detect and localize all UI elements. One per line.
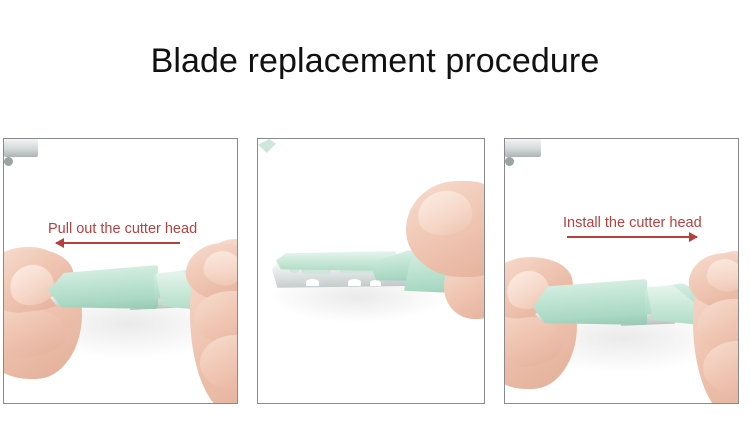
arrow-left-icon — [56, 237, 180, 249]
arrow-head — [55, 238, 64, 248]
blade-notch — [306, 279, 319, 286]
arrow-head — [689, 232, 698, 242]
blade-notch — [348, 279, 361, 286]
arrow-right-icon — [567, 231, 697, 243]
step-3-caption: Install the cutter head — [563, 215, 702, 232]
blade-replacement-instruction-graphic: Blade replacement procedure — [0, 0, 750, 425]
step-2-illustration — [258, 139, 484, 403]
step-1-illustration: Pull out the cutter head — [4, 139, 237, 403]
blade-tip — [258, 139, 276, 153]
page-title: Blade replacement procedure — [0, 40, 750, 82]
steps-panel-strip: Pull out the cutter head — [3, 138, 739, 404]
blade-clip-notch-icon — [505, 157, 514, 166]
step-panel-2 — [257, 138, 485, 404]
step-panel-1: Pull out the cutter head — [3, 138, 238, 404]
step-3-illustration: Install the cutter head — [505, 139, 738, 403]
step-panel-3: Install the cutter head — [504, 138, 739, 404]
blade-clip — [4, 139, 38, 157]
blade-clip-notch-icon — [4, 157, 13, 166]
arrow-shaft — [56, 242, 180, 244]
blade-notch — [370, 280, 381, 286]
blade-clip — [505, 139, 541, 157]
step-1-caption: Pull out the cutter head — [48, 221, 197, 238]
arrow-shaft — [567, 236, 697, 238]
